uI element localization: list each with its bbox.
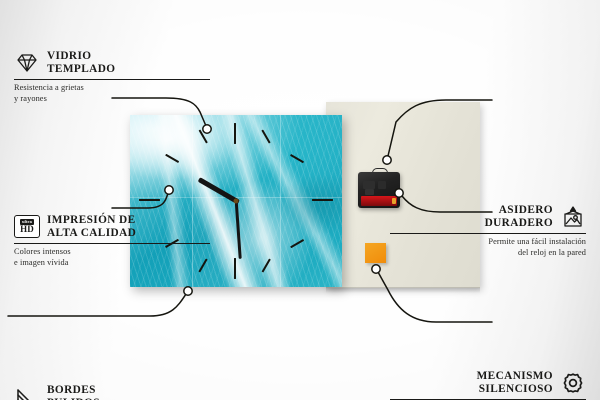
polished-edges-icon [14,385,40,400]
clock-center-pin [234,199,239,204]
feature-mecanismo-silencioso: MECANISMO SILENCIOSO Las manecillas del … [390,370,586,400]
clock-mechanism [358,168,400,208]
divider [14,79,210,80]
hanging-frame-icon [560,205,586,229]
connector-bordes [8,294,186,316]
infographic-canvas: VIDRIO TEMPLADO Resistencia a grietas y … [0,0,600,400]
divider [14,243,210,244]
clock-back-panel [326,102,480,288]
feature-title: BORDES PULIDOS [47,384,100,400]
feature-vidrio-templado: VIDRIO TEMPLADO Resistencia a grietas y … [14,50,210,104]
feature-asidero-duradero: ASIDERO DURADERO Permite una fácil insta… [390,204,586,258]
ultra-hd-icon: ultra HD [14,215,40,239]
divider [390,233,586,234]
feature-description: Permite una fácil instalación del reloj … [390,237,586,258]
foam-spacer [365,243,386,263]
connector-dot-bordes [184,287,192,295]
mechanism-detail [363,181,375,189]
feature-description: Colores intensos e imagen vívida [14,247,210,268]
feature-title: IMPRESIÓN DE ALTA CALIDAD [47,214,136,240]
feature-description: Resistencia a grietas y rayones [14,83,210,104]
mechanism-detail [378,181,386,189]
feature-title: VIDRIO TEMPLADO [47,50,115,76]
feature-bordes-pulidos: BORDES PULIDOS Superficie lisa y segura [14,384,210,400]
mechanism-body [358,172,400,208]
feature-title: ASIDERO DURADERO [485,204,553,230]
feature-impresion-alta-calidad: ultra HD IMPRESIÓN DE ALTA CALIDAD Color… [14,214,210,268]
diamond-icon [14,51,40,75]
feature-title: MECANISMO SILENCIOSO [477,370,553,396]
mechanism-detail [365,189,374,195]
gear-icon [560,371,586,395]
